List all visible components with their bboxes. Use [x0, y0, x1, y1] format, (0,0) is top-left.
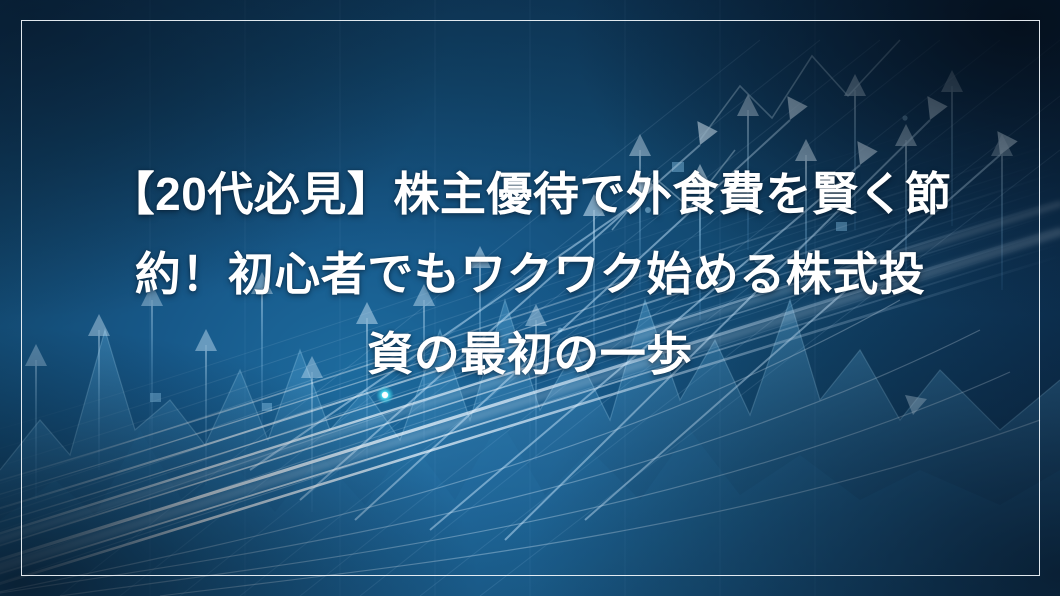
title-line-3: 資の最初の一歩: [30, 314, 1030, 394]
title-line-1: 【20代必見】株主優待で外食費を賢く節: [30, 154, 1030, 234]
page-title: 【20代必見】株主優待で外食費を賢く節 約！初心者でもワクワク始める株式投 資の…: [0, 154, 1060, 394]
title-slide: 【20代必見】株主優待で外食費を賢く節 約！初心者でもワクワク始める株式投 資の…: [0, 0, 1060, 596]
title-line-2: 約！初心者でもワクワク始める株式投: [30, 234, 1030, 314]
